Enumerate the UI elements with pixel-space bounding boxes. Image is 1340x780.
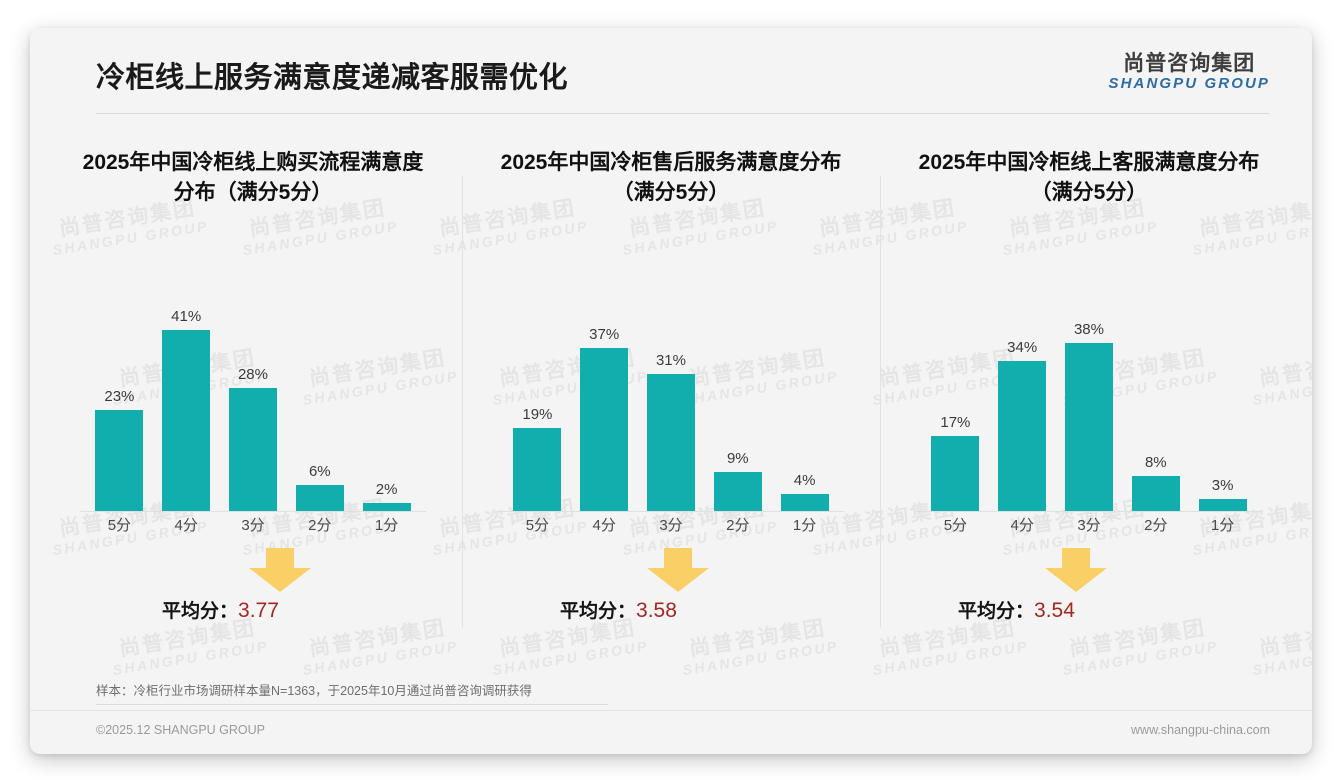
bar-series: 17%34%38%8%3% <box>922 262 1256 512</box>
average-score-label: 平均分： <box>560 601 636 622</box>
bar[interactable] <box>1199 499 1247 512</box>
logo-chinese-text: 尚普咨询集团 <box>1109 52 1270 76</box>
average-score-text: 平均分：3.58 <box>560 596 677 623</box>
bar-value-label: 41% <box>171 308 201 325</box>
x-axis-tick-label: 1分 <box>1189 514 1256 538</box>
website-link[interactable]: www.shangpu-china.com <box>1131 723 1270 737</box>
bar[interactable] <box>1065 343 1113 512</box>
x-axis-tick-label: 4分 <box>153 514 220 538</box>
slide-footer: ©2025.12 SHANGPU GROUP www.shangpu-china… <box>30 710 1312 754</box>
bar-group[interactable]: 9% <box>704 262 771 512</box>
bar[interactable] <box>162 330 210 512</box>
average-score-value: 3.58 <box>636 599 677 622</box>
brand-logo: 尚普咨询集团 SHANGPU GROUP <box>1109 52 1270 92</box>
x-axis-tick-label: 4分 <box>989 514 1056 538</box>
bar[interactable] <box>1132 476 1180 512</box>
chart-title: 2025年中国冷柜线上购买流程满意度分布（满分5分） <box>60 148 446 212</box>
page-title: 冷柜线上服务满意度递减客服需优化 <box>96 54 568 96</box>
average-score-value: 3.77 <box>238 599 279 622</box>
bar[interactable] <box>931 436 979 512</box>
bar-group[interactable]: 31% <box>638 262 705 512</box>
bar-value-label: 19% <box>522 406 552 423</box>
bar-value-label: 28% <box>238 366 268 383</box>
down-arrow-icon <box>249 548 311 592</box>
x-axis-tick-label: 2分 <box>1122 514 1189 538</box>
bar-value-label: 9% <box>727 450 749 467</box>
x-axis-tick-label: 5分 <box>922 514 989 538</box>
bar[interactable] <box>229 388 277 512</box>
bar-series: 19%37%31%9%4% <box>504 262 838 512</box>
chart-title: 2025年中国冷柜线上客服满意度分布（满分5分） <box>896 148 1282 212</box>
bar-value-label: 6% <box>309 463 331 480</box>
bar-value-label: 31% <box>656 352 686 369</box>
bar[interactable] <box>998 361 1046 512</box>
chart-panel-1: 2025年中国冷柜线上购买流程满意度分布（满分5分）23%41%28%6%2%5… <box>44 148 462 668</box>
bar-value-label: 4% <box>794 472 816 489</box>
average-annotation: 平均分：3.77 <box>44 548 462 643</box>
x-axis-tick-label: 1分 <box>771 514 838 538</box>
bar-group[interactable]: 38% <box>1056 262 1123 512</box>
x-axis-tick-label: 3分 <box>638 514 705 538</box>
plot-area: 19%37%31%9%4%5分4分3分2分1分 <box>504 244 838 538</box>
bar-value-label: 34% <box>1007 339 1037 356</box>
copyright-text: ©2025.12 SHANGPU GROUP <box>96 723 265 737</box>
bar-value-label: 23% <box>104 388 134 405</box>
chart-panel-3: 2025年中国冷柜线上客服满意度分布（满分5分）17%34%38%8%3%5分4… <box>880 148 1298 668</box>
header-divider <box>96 113 1270 114</box>
x-axis-tick-label: 5分 <box>504 514 571 538</box>
bar-value-label: 2% <box>376 481 398 498</box>
bar-group[interactable]: 6% <box>286 262 353 512</box>
x-axis-tick-label: 2分 <box>704 514 771 538</box>
bar-value-label: 37% <box>589 326 619 343</box>
bar-group[interactable]: 2% <box>353 262 420 512</box>
footer-divider <box>30 710 1312 711</box>
x-axis-line <box>80 511 426 512</box>
bar-group[interactable]: 28% <box>220 262 287 512</box>
average-score-value: 3.54 <box>1034 599 1075 622</box>
down-arrow-icon <box>647 548 709 592</box>
average-annotation: 平均分：3.58 <box>462 548 880 643</box>
bar-value-label: 17% <box>940 414 970 431</box>
bar-group[interactable]: 41% <box>153 262 220 512</box>
chart-title: 2025年中国冷柜售后服务满意度分布（满分5分） <box>478 148 864 212</box>
plot-area: 23%41%28%6%2%5分4分3分2分1分 <box>86 244 420 538</box>
slide: 尚普咨询集团SHANGPU GROUP尚普咨询集团SHANGPU GROUP尚普… <box>30 28 1312 754</box>
bar[interactable] <box>513 428 561 512</box>
bar-group[interactable]: 3% <box>1189 262 1256 512</box>
plot-area: 17%34%38%8%3%5分4分3分2分1分 <box>922 244 1256 538</box>
x-axis-tick-labels: 5分4分3分2分1分 <box>504 514 838 538</box>
bar-group[interactable]: 37% <box>571 262 638 512</box>
average-annotation: 平均分：3.54 <box>880 548 1298 643</box>
bar-value-label: 38% <box>1074 321 1104 338</box>
chart-panel-2: 2025年中国冷柜售后服务满意度分布（满分5分）19%37%31%9%4%5分4… <box>462 148 880 668</box>
bar-group[interactable]: 8% <box>1122 262 1189 512</box>
x-axis-line <box>916 511 1262 512</box>
bar-series: 23%41%28%6%2% <box>86 262 420 512</box>
average-score-text: 平均分：3.77 <box>162 596 279 623</box>
x-axis-tick-label: 1分 <box>353 514 420 538</box>
x-axis-line <box>498 511 844 512</box>
sample-footnote: 样本：冷柜行业市场调研样本量N=1363，于2025年10月通过尚普咨询调研获得 <box>96 680 532 699</box>
slide-header: 冷柜线上服务满意度递减客服需优化 尚普咨询集团 SHANGPU GROUP <box>30 28 1312 116</box>
x-axis-tick-label: 4分 <box>571 514 638 538</box>
x-axis-tick-labels: 5分4分3分2分1分 <box>922 514 1256 538</box>
bar-group[interactable]: 34% <box>989 262 1056 512</box>
average-score-label: 平均分： <box>162 601 238 622</box>
average-score-text: 平均分：3.54 <box>958 596 1075 623</box>
bar-value-label: 3% <box>1212 477 1234 494</box>
down-arrow-icon <box>1045 548 1107 592</box>
footnote-divider <box>96 704 608 705</box>
bar-group[interactable]: 17% <box>922 262 989 512</box>
x-axis-tick-label: 3分 <box>220 514 287 538</box>
bar-group[interactable]: 19% <box>504 262 571 512</box>
bar[interactable] <box>714 472 762 512</box>
bar-group[interactable]: 4% <box>771 262 838 512</box>
average-score-label: 平均分： <box>958 601 1034 622</box>
x-axis-tick-label: 3分 <box>1056 514 1123 538</box>
x-axis-tick-label: 5分 <box>86 514 153 538</box>
bar[interactable] <box>95 410 143 512</box>
bar[interactable] <box>647 374 695 512</box>
bar[interactable] <box>296 485 344 512</box>
bar[interactable] <box>580 348 628 512</box>
bar-group[interactable]: 23% <box>86 262 153 512</box>
x-axis-tick-label: 2分 <box>286 514 353 538</box>
bar[interactable] <box>781 494 829 512</box>
logo-english-text: SHANGPU GROUP <box>1109 76 1270 93</box>
x-axis-tick-labels: 5分4分3分2分1分 <box>86 514 420 538</box>
bar-value-label: 8% <box>1145 454 1167 471</box>
charts-row: 2025年中国冷柜线上购买流程满意度分布（满分5分）23%41%28%6%2%5… <box>44 148 1298 668</box>
